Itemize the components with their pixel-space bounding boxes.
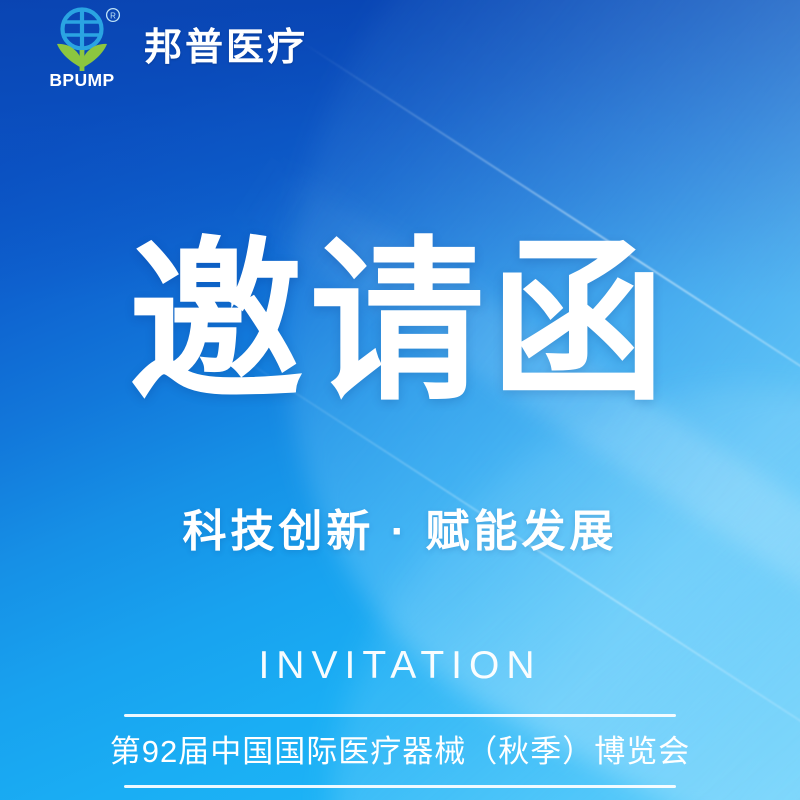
- footer-event-block: 第92届中国国际医疗器械（秋季）博览会: [0, 714, 800, 788]
- slogan-container: 科技创新 · 赋能发展: [0, 508, 800, 556]
- circle-grid-emblem-icon: [63, 10, 102, 49]
- brand-header: R BPUMP 邦普医疗: [0, 0, 800, 96]
- invitation-poster: R BPUMP 邦普医疗 邀请函 科技创新 · 赋能发展 INVITATION: [0, 0, 800, 800]
- page-title: 邀请函: [129, 236, 672, 411]
- company-name: 邦普医疗: [144, 29, 308, 67]
- english-label-container: INVITATION: [0, 646, 800, 685]
- divider-top: [124, 714, 676, 717]
- svg-text:R: R: [110, 11, 116, 20]
- logo-wordmark: BPUMP: [49, 70, 114, 90]
- bpump-medical-logo: R BPUMP: [48, 6, 126, 90]
- english-label: INVITATION: [258, 646, 541, 685]
- event-name: 第92届中国国际医疗器械（秋季）博览会: [110, 734, 690, 770]
- page-title-container: 邀请函: [0, 236, 800, 411]
- slogan-text: 科技创新 · 赋能发展: [182, 508, 617, 556]
- divider-bottom: [124, 785, 676, 788]
- registered-mark-icon: R: [107, 9, 120, 22]
